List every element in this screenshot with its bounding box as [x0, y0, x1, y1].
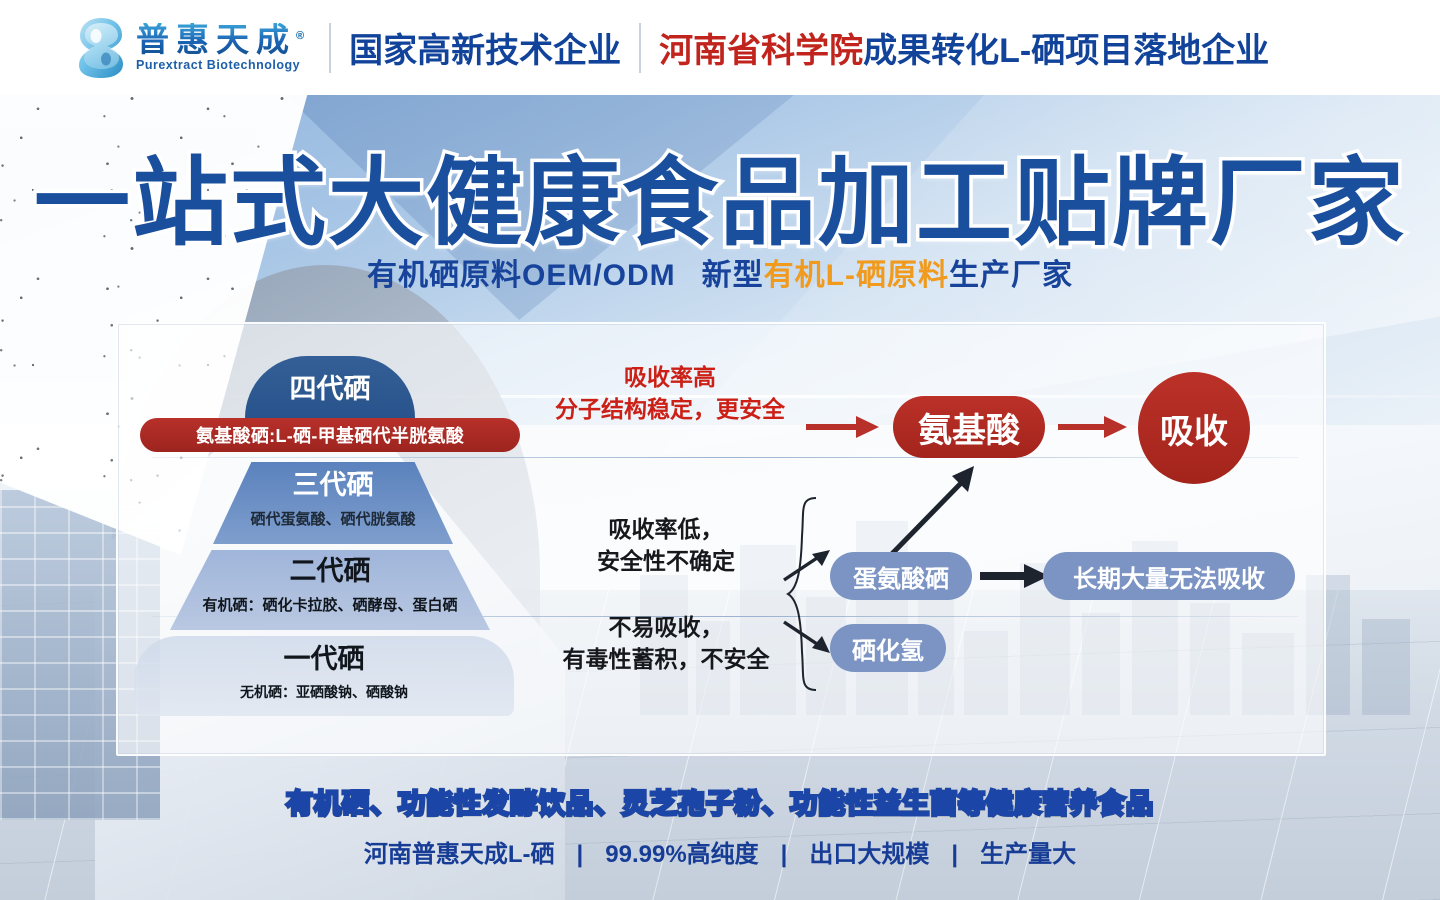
- pyramid-level-3: 三代硒 硒代蛋氨酸、硒代胱氨酸: [213, 462, 453, 544]
- arrow-diagonal-up-black: [878, 454, 990, 566]
- pyramid-level-4-title: 四代硒: [245, 376, 415, 403]
- page-subtitle: 有机硒原料OEM/ODM新型有机L-硒原料生产厂家: [0, 250, 1440, 294]
- brand-text: 普惠天成® Purextract Biotechnology: [136, 23, 311, 73]
- arrow-small-down-right: [780, 616, 834, 658]
- content-panel: 四代硒 氨基酸硒:L-硒-甲基硒代半胱氨酸 三代硒 硒代蛋氨酸、硒代胱氨酸 二代…: [116, 322, 1326, 756]
- cell-swirl-icon: [76, 16, 126, 80]
- header-tag-academy-blue: 成果转化L-硒项目落地企业: [863, 32, 1269, 70]
- subtitle-part-2: 新型: [702, 259, 764, 292]
- footer-feature-list: 河南普惠天成L-硒|99.99%高纯度|出口大规模|生产量大: [0, 834, 1440, 869]
- header-divider-1: [329, 23, 331, 73]
- sel-methionine-node: 蛋氨酸硒: [830, 552, 972, 600]
- brand-logo[interactable]: 普惠天成® Purextract Biotechnology: [76, 16, 311, 80]
- header-tag-national: 国家高新技术企业: [349, 23, 621, 72]
- note-low-absorption: 吸收率低， 安全性不确定: [516, 514, 816, 577]
- footer-item-2: 出口大规模: [809, 841, 929, 868]
- footer-item-3: 生产量大: [980, 841, 1076, 868]
- absorption-node: 吸收: [1138, 372, 1250, 484]
- pyramid-level-4: 四代硒: [245, 356, 415, 418]
- arrow-right-red-1: [806, 412, 880, 442]
- header-tag-academy: 河南省科学院成果转化L-硒项目落地企业: [659, 23, 1269, 72]
- pyramid-level-3-title: 三代硒: [213, 472, 453, 499]
- brand-name-en: Purextract Biotechnology: [136, 58, 311, 72]
- hydrogen-selenide-node: 硒化氢: [830, 624, 946, 672]
- footer-separator-0: |: [555, 841, 606, 869]
- footer-item-1: 99.99%高纯度: [605, 841, 758, 868]
- pyramid-level-2-title: 二代硒: [170, 558, 490, 585]
- arrow-small-up-right: [780, 546, 834, 586]
- pyramid-level-2-sub: 有机硒：硒化卡拉胶、硒酵母、蛋白硒: [170, 594, 490, 615]
- pyramid-level-1-title: 一代硒: [134, 646, 514, 673]
- pyramid-level-2: 二代硒 有机硒：硒化卡拉胶、硒酵母、蛋白硒: [170, 550, 490, 630]
- registered-mark: ®: [296, 30, 311, 42]
- no-absorption-node: 长期大量无法吸收: [1043, 552, 1295, 600]
- curly-brace-icon: [786, 496, 830, 692]
- note-high-absorption: 吸收率高 分子结构稳定，更安全: [520, 362, 820, 425]
- arrow-right-black: [980, 562, 1050, 590]
- subtitle-highlight: 有机L-硒原料: [764, 259, 949, 292]
- header-divider-2: [639, 23, 641, 73]
- footer-separator-1: |: [759, 841, 810, 869]
- amino-acid-node: 氨基酸: [893, 396, 1045, 458]
- header-tag-academy-red: 河南省科学院: [659, 32, 863, 70]
- footer-separator-2: |: [929, 841, 980, 869]
- subtitle-part-3: 生产厂家: [949, 259, 1073, 292]
- footer-item-0: 河南普惠天成L-硒: [364, 841, 555, 868]
- pyramid-level-4-badge: 氨基酸硒:L-硒-甲基硒代半胱氨酸: [140, 418, 520, 452]
- pyramid-level-1-sub: 无机硒：亚硒酸钠、硒酸钠: [134, 682, 514, 702]
- brand-name-cn: 普惠天成: [136, 21, 296, 58]
- page-title: 一站式大健康食品加工贴牌厂家: [0, 125, 1440, 264]
- selenium-generation-pyramid: 四代硒 氨基酸硒:L-硒-甲基硒代半胱氨酸 三代硒 硒代蛋氨酸、硒代胱氨酸 二代…: [118, 324, 538, 758]
- arrow-right-red-2: [1058, 412, 1128, 442]
- page-header: 普惠天成® Purextract Biotechnology 国家高新技术企业 …: [0, 0, 1440, 95]
- pyramid-level-3-sub: 硒代蛋氨酸、硒代胱氨酸: [213, 508, 453, 529]
- footer-product-line: 有机硒、功能性发酵饮品、灵芝孢子粉、功能性益生菌等健康营养食品: [0, 782, 1440, 821]
- subtitle-part-1: 有机硒原料OEM/ODM: [367, 259, 676, 292]
- pyramid-level-1: 一代硒 无机硒：亚硒酸钠、硒酸钠: [134, 636, 514, 716]
